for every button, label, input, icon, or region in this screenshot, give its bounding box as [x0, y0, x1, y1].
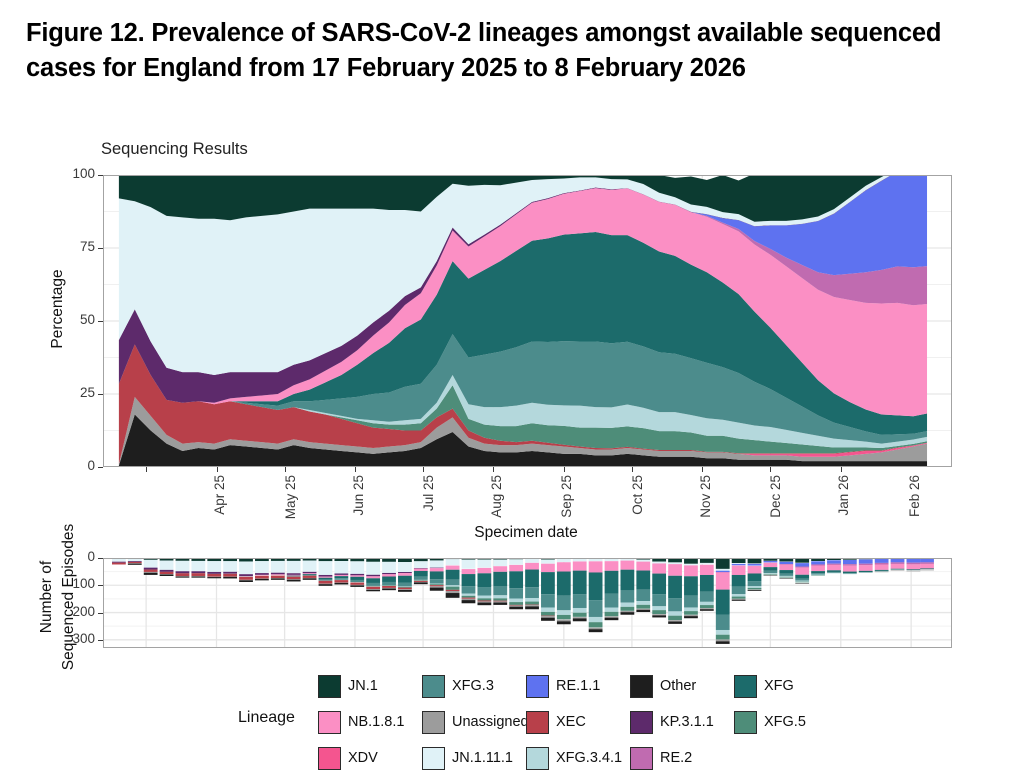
- bars-y-axis-title: Number of Sequenced Episodes: [36, 487, 80, 707]
- bar-column: [144, 558, 158, 575]
- bar-column: [366, 558, 380, 591]
- main-x-tick-mark: [632, 467, 633, 472]
- bar-column: [160, 558, 174, 576]
- sequenced-episodes-bar-chart: [103, 558, 952, 648]
- bars-y-tick-mark: [98, 585, 103, 586]
- bar-column: [350, 558, 364, 587]
- legend-item-kp-3-1-1[interactable]: KP.3.1.1: [630, 704, 734, 740]
- bar-column: [319, 558, 333, 586]
- bar-column: [764, 558, 778, 575]
- bar-column: [430, 558, 444, 591]
- main-x-tick-label: Feb 26: [907, 475, 922, 535]
- legend-swatch-xec-icon: [526, 711, 549, 734]
- bars-y-tick-label: 100: [55, 576, 95, 591]
- bar-column: [191, 558, 205, 578]
- legend-swatch-xfg-5-icon: [734, 711, 757, 734]
- bars-y-tick-mark: [98, 613, 103, 614]
- bars-y-axis-title-line1: Number of: [38, 561, 55, 633]
- main-y-tick-label: 100: [55, 166, 95, 181]
- main-x-tick-mark: [702, 467, 703, 472]
- main-y-tick-mark: [98, 321, 103, 322]
- legend-swatch-re-2-icon: [630, 747, 653, 770]
- bar-column: [827, 558, 841, 573]
- legend-swatch-xfg-3-icon: [422, 675, 445, 698]
- legend-item-xfg-3-4-1[interactable]: XFG.3.4.1: [526, 740, 630, 776]
- legend-label: JN.1: [348, 678, 378, 694]
- x-axis-title: Specimen date: [100, 524, 952, 542]
- legend-swatch-xfg-icon: [734, 675, 757, 698]
- legend-label: RE.2: [660, 750, 692, 766]
- bar-column: [493, 558, 507, 605]
- legend-item-unassigned[interactable]: Unassigned: [422, 704, 526, 740]
- panel-subtitle: Sequencing Results: [101, 140, 248, 159]
- bar-column: [795, 558, 809, 584]
- legend-label: XFG.3: [452, 678, 494, 694]
- main-x-tick-mark: [493, 467, 494, 472]
- main-y-tick-label: 75: [55, 239, 95, 254]
- legend-label: RE.1.1: [556, 678, 600, 694]
- legend-label: Unassigned: [452, 714, 529, 730]
- legend-item-xfg-5[interactable]: XFG.5: [734, 704, 838, 740]
- main-y-tick-mark: [98, 467, 103, 468]
- legend-label: Other: [660, 678, 696, 694]
- main-x-tick-label: Jun 25: [351, 475, 366, 535]
- legend-label: XDV: [348, 750, 378, 766]
- main-x-tick-label: Aug 25: [489, 475, 504, 535]
- legend-swatch-re-1-1-icon: [526, 675, 549, 698]
- bars-y-tick-mark: [98, 640, 103, 641]
- bar-column: [287, 558, 301, 581]
- bar-column: [128, 558, 142, 565]
- legend-item-re-2[interactable]: RE.2: [630, 740, 734, 776]
- main-x-tick-label: Jul 25: [421, 475, 436, 535]
- figure-container: Figure 12. Prevalence of SARS-CoV-2 line…: [0, 0, 1011, 781]
- bar-column: [716, 558, 730, 644]
- main-x-tick-label: Apr 25: [212, 475, 227, 535]
- bar-column: [875, 559, 889, 573]
- bar-column: [891, 558, 905, 570]
- prevalence-area-chart: [103, 175, 952, 467]
- bar-column: [334, 558, 348, 584]
- legend-item-xfg[interactable]: XFG: [734, 668, 838, 704]
- bars-y-tick-label: 0: [55, 549, 95, 564]
- legend-item-xec[interactable]: XEC: [526, 704, 630, 740]
- legend-item-jn-1[interactable]: JN.1: [318, 668, 422, 704]
- bar-column: [462, 558, 476, 603]
- bars-y-tick-mark: [98, 558, 103, 559]
- bar-column: [398, 558, 412, 592]
- legend-swatch-jn-1-icon: [318, 675, 341, 698]
- main-x-tick-label: Sep 25: [559, 475, 574, 535]
- bar-column: [176, 558, 190, 578]
- bar-column: [920, 558, 934, 570]
- bar-column: [509, 558, 523, 609]
- bar-column: [589, 558, 603, 632]
- legend-label: XFG.5: [764, 714, 806, 730]
- legend-swatch-kp-3-1-1-icon: [630, 711, 653, 734]
- bar-column: [414, 558, 428, 584]
- main-x-tick-mark: [285, 467, 286, 472]
- bar-column: [732, 558, 746, 601]
- bar-column: [668, 558, 682, 624]
- bar-column: [907, 558, 921, 571]
- bar-column: [271, 558, 285, 580]
- legend-item-nb-1-8-1[interactable]: NB.1.8.1: [318, 704, 422, 740]
- bar-column: [477, 558, 491, 605]
- bar-column: [605, 558, 619, 620]
- legend-label: KP.3.1.1: [660, 714, 714, 730]
- main-x-tick-mark: [217, 467, 218, 472]
- main-y-axis-title: Percentage: [49, 239, 67, 379]
- main-y-tick-label: 25: [55, 385, 95, 400]
- bar-column: [525, 558, 539, 609]
- bar-column: [843, 558, 857, 574]
- bar-column: [541, 558, 555, 621]
- bar-column: [446, 558, 460, 598]
- legend-label: NB.1.8.1: [348, 714, 404, 730]
- bar-column: [859, 558, 873, 573]
- sequenced-episodes-bar-svg: [103, 558, 952, 648]
- main-x-tick-mark: [423, 467, 424, 472]
- legend-swatch-xdv-icon: [318, 747, 341, 770]
- main-y-tick-label: 50: [55, 312, 95, 327]
- bar-column: [573, 558, 587, 621]
- bar-column: [112, 558, 126, 564]
- bar-column: [255, 558, 269, 580]
- bar-column: [684, 558, 698, 618]
- bar-column: [811, 558, 825, 576]
- main-x-tick-mark: [841, 467, 842, 472]
- legend-swatch-nb-1-8-1-icon: [318, 711, 341, 734]
- bars-y-axis-title-line2: Sequenced Episodes: [60, 524, 77, 671]
- bar-column: [557, 558, 571, 624]
- legend-swatch-unassigned-icon: [422, 711, 445, 734]
- main-y-tick-mark: [98, 248, 103, 249]
- main-y-tick-mark: [98, 175, 103, 176]
- bar-column: [303, 558, 317, 580]
- bar-column: [620, 558, 634, 615]
- page-title: Figure 12. Prevalence of SARS-CoV-2 line…: [26, 16, 966, 86]
- main-x-tick-label: Jan 26: [836, 475, 851, 535]
- legend-entries: JN.1XFG.3RE.1.1OtherXFGNB.1.8.1Unassigne…: [318, 668, 838, 776]
- bar-column: [652, 558, 666, 617]
- legend-title: Lineage: [238, 709, 314, 727]
- bar-column: [748, 558, 762, 591]
- prevalence-area-svg: [103, 175, 952, 467]
- bars-y-tick-label: 200: [55, 604, 95, 619]
- legend-swatch-other-icon: [630, 675, 653, 698]
- main-x-tick-label: Dec 25: [768, 475, 783, 535]
- main-y-tick-mark: [98, 394, 103, 395]
- bar-column: [223, 558, 237, 578]
- legend-swatch-xfg-3-4-1-icon: [526, 747, 549, 770]
- main-x-tick-mark: [770, 467, 771, 472]
- legend-item-xfg-3[interactable]: XFG.3: [422, 668, 526, 704]
- bar-column: [636, 558, 650, 612]
- legend-label: XFG: [764, 678, 794, 694]
- main-x-tick-label: Oct 25: [630, 475, 645, 535]
- bar-column: [779, 558, 793, 578]
- legend-item-jn-1-11-1[interactable]: JN.1.11.1: [422, 740, 526, 776]
- legend: Lineage JN.1XFG.3RE.1.1OtherXFGNB.1.8.1U…: [238, 668, 998, 778]
- main-x-tick-label: May 25: [283, 475, 298, 535]
- legend-label: XFG.3.4.1: [556, 750, 622, 766]
- main-x-tick-mark: [146, 467, 147, 472]
- legend-label: XEC: [556, 714, 586, 730]
- main-x-tick-mark: [564, 467, 565, 472]
- bar-column: [239, 558, 253, 582]
- main-x-tick-mark: [355, 467, 356, 472]
- bars-y-tick-label: 300: [55, 631, 95, 646]
- main-x-tick-label: Nov 25: [698, 475, 713, 535]
- bar-column: [700, 558, 714, 611]
- bar-column: [207, 558, 221, 578]
- main-y-tick-label: 0: [55, 458, 95, 473]
- legend-item-other[interactable]: Other: [630, 668, 734, 704]
- legend-label: JN.1.11.1: [452, 750, 513, 766]
- legend-swatch-jn-1-11-1-icon: [422, 747, 445, 770]
- legend-item-xdv[interactable]: XDV: [318, 740, 422, 776]
- legend-item-re-1-1[interactable]: RE.1.1: [526, 668, 630, 704]
